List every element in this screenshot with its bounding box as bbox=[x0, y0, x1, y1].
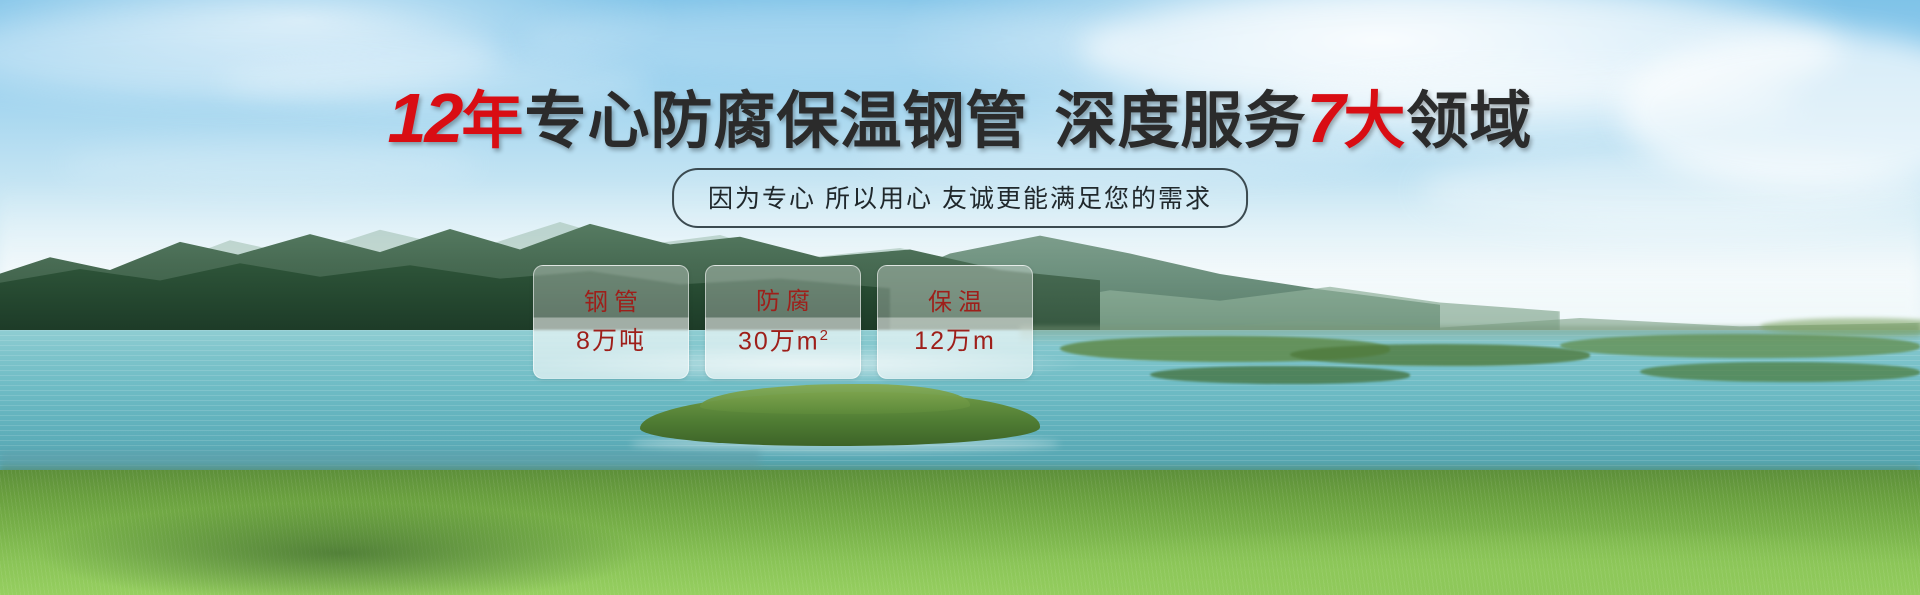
headline-middle: 专心防腐保温钢管 bbox=[524, 87, 1028, 156]
stat-card-value-text: 30万m bbox=[738, 327, 820, 355]
headline-tail: 领域 bbox=[1406, 87, 1532, 156]
stat-cards: 钢管 8万吨 防腐 30万m2 保温 12万m bbox=[533, 265, 1033, 379]
stat-card-title: 保温 bbox=[928, 291, 988, 315]
stat-card-value-text: 12万m bbox=[914, 327, 996, 355]
stat-card-value: 8万吨 bbox=[576, 329, 646, 354]
stat-card-steel-pipe[interactable]: 钢管 8万吨 bbox=[533, 265, 689, 379]
headline-fields-number: 7 bbox=[1306, 79, 1343, 157]
stat-card-anticorrosion[interactable]: 防腐 30万m2 bbox=[705, 265, 861, 379]
headline-fields-unit: 大 bbox=[1343, 87, 1406, 156]
cloud-shape bbox=[520, 4, 1140, 74]
headline-years-unit: 年 bbox=[461, 87, 524, 156]
subtitle-pill: 因为专心 所以用心 友诚更能满足您的需求 bbox=[672, 168, 1248, 228]
headline-years-number: 12 bbox=[388, 79, 462, 157]
page-title: 12年专心防腐保温钢管深度服务7大领域 bbox=[0, 83, 1920, 153]
hero-banner: 12年专心防腐保温钢管深度服务7大领域 因为专心 所以用心 友诚更能满足您的需求… bbox=[0, 0, 1920, 595]
stat-card-title: 钢管 bbox=[584, 291, 644, 315]
stat-card-insulation[interactable]: 保温 12万m bbox=[877, 265, 1033, 379]
stat-card-value-superscript: 2 bbox=[820, 327, 828, 344]
stat-card-value-text: 8万吨 bbox=[576, 327, 646, 355]
stat-card-value: 30万m2 bbox=[738, 328, 828, 354]
stat-card-title: 防腐 bbox=[756, 290, 816, 314]
stat-card-value: 12万m bbox=[914, 329, 996, 354]
headline-segment-2: 深度服务 bbox=[1054, 87, 1306, 156]
grass-shadow bbox=[0, 486, 720, 595]
